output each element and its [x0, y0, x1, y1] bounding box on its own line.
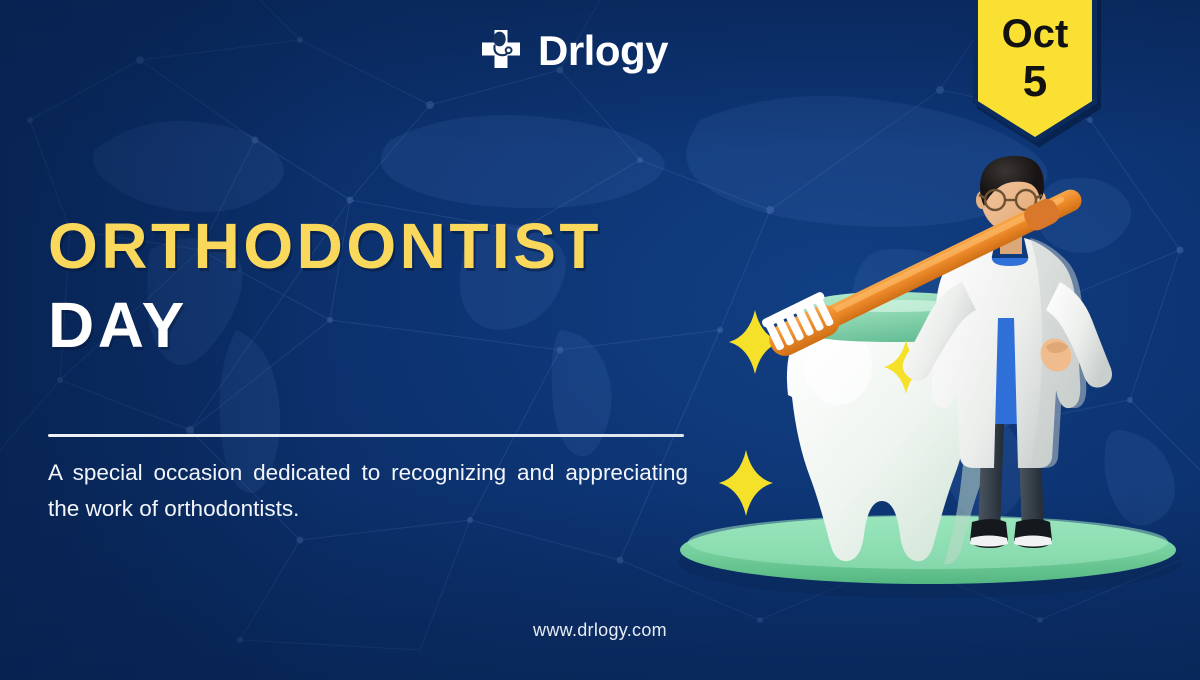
page-title: ORTHODONTIST DAY [48, 214, 602, 359]
brand-logo[interactable]: Drlogy [478, 28, 668, 74]
footer-website[interactable]: www.drlogy.com [0, 620, 1200, 641]
shoe-right [1014, 519, 1052, 548]
medical-cross-stethoscope-icon [478, 28, 524, 74]
badge-day: 5 [975, 60, 1095, 104]
sparkle-icon-3 [719, 450, 773, 516]
shoe-left [970, 519, 1008, 548]
title-divider [48, 434, 684, 437]
date-badge: Oct 5 [975, 0, 1095, 137]
dentist-illustration [660, 150, 1200, 610]
brand-name: Drlogy [538, 30, 668, 72]
title-line-2: DAY [48, 293, 602, 358]
title-line-1: ORTHODONTIST [48, 214, 602, 279]
poster-canvas: Drlogy Oct 5 ORTHODONTIST DAY A special … [0, 0, 1200, 680]
subtitle-text: A special occasion dedicated to recogniz… [48, 455, 688, 526]
badge-month: Oct [975, 14, 1095, 54]
